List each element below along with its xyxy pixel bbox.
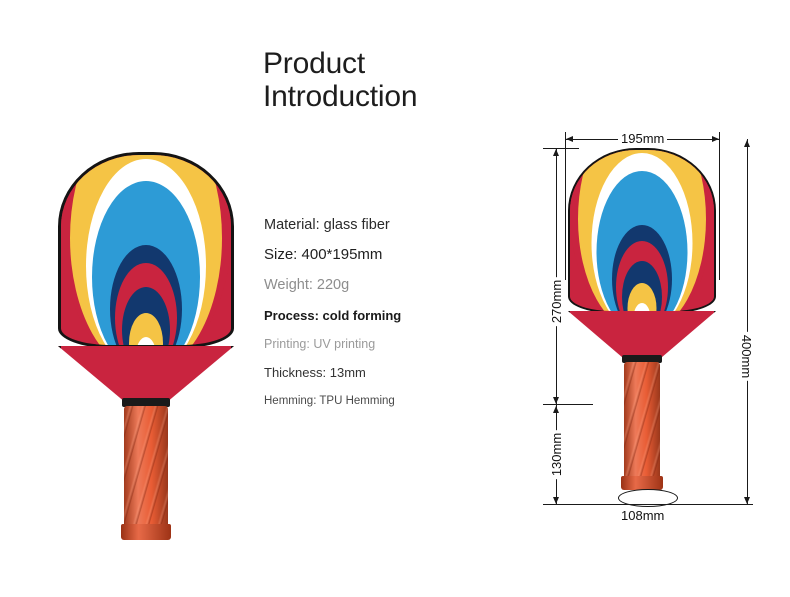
page-title: Product Introduction — [263, 47, 503, 113]
extension-line-width-right — [719, 132, 720, 280]
paddle-throat-technical — [568, 311, 716, 359]
extension-line-width-left — [565, 132, 566, 280]
paddle-grip-technical — [624, 362, 660, 482]
arrow-width-right — [712, 136, 719, 142]
product-introduction-page: Product Introduction Material: glass fib… — [0, 0, 790, 597]
dimension-label-width: 195mm — [618, 131, 667, 146]
arrow-handle-top — [553, 406, 559, 413]
extension-line-face-top — [543, 148, 579, 149]
specification-list: Material: glass fiber Size: 400*195mm We… — [264, 211, 494, 414]
arrow-face-height-top — [553, 149, 559, 156]
paddle-grip-butt-cap — [121, 524, 171, 540]
spec-item-printing: Printing: UV printing — [264, 330, 494, 358]
arrow-total-length-bottom — [744, 497, 750, 504]
arrow-width-left — [566, 136, 573, 142]
paddle-face — [58, 152, 234, 348]
grip-base-ellipse — [618, 489, 678, 507]
dimension-label-grip-circumference: 108mm — [618, 508, 667, 523]
dimension-line-total-length — [747, 139, 748, 504]
dimension-label-total-length: 400mm — [739, 332, 754, 381]
arrow-handle-bottom — [553, 497, 559, 504]
spec-item-weight: Weight: 220g — [264, 270, 494, 301]
dimension-label-handle: 130mm — [549, 430, 564, 479]
spec-item-hemming: Hemming: TPU Hemming — [264, 388, 494, 414]
extension-line-face-bottom — [543, 404, 593, 405]
spec-item-size: Size: 400*195mm — [264, 240, 494, 270]
paddle-face-technical — [568, 148, 716, 313]
paddle-grip — [124, 406, 168, 530]
arrow-total-length-top — [744, 140, 750, 147]
spec-item-material: Material: glass fiber — [264, 211, 494, 240]
spec-item-thickness: Thickness: 13mm — [264, 358, 494, 388]
dimension-label-face-height: 270mm — [549, 277, 564, 326]
paddle-grip-butt-cap-technical — [621, 476, 663, 490]
badge-line-approved: APPROVED — [164, 512, 208, 521]
paddle-image-left: USA PICKLEBALL APPROVED — [58, 152, 234, 500]
paddle-throat — [58, 346, 234, 402]
spec-item-process: Process: cold forming — [264, 301, 494, 330]
badge-line-approved: APPROVED — [657, 451, 696, 459]
arrow-face-height-bottom — [553, 397, 559, 404]
paddle-image-right: USA PICKLEBALL APPROVED — [568, 148, 716, 500]
